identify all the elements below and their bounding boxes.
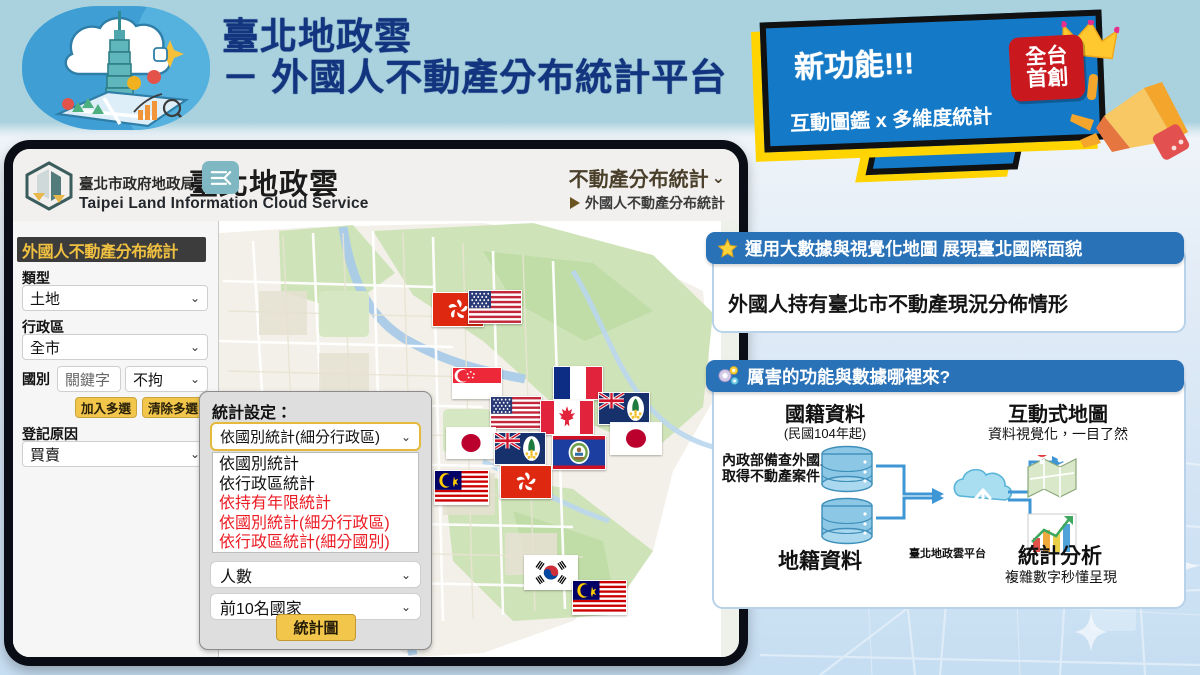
chevron-down-icon: ⌄	[401, 568, 411, 582]
info-card-header-label: 運用大數據與視覺化地圖 展現臺北國際面貌	[745, 236, 1082, 261]
map-flag-british-virgin-islands[interactable]	[494, 432, 546, 465]
stats-popup-title: 統計設定：	[212, 399, 292, 423]
chevron-down-icon: ⌄	[401, 430, 411, 444]
banner-title: 臺北地政雲 － 外國人不動產分布統計平台	[222, 16, 762, 99]
country-keyword-input[interactable]: 關鍵字	[57, 366, 121, 392]
promo-bubble: 新功能!!! 互動圖鑑 x 多維度統計 全台 首創	[752, 8, 1182, 168]
map-flag-united-states[interactable]	[490, 396, 542, 429]
stats-option-4[interactable]: 依行政區統計(細分國別)	[219, 533, 418, 553]
database-icon-2	[822, 499, 872, 544]
nav-main-menu[interactable]: 不動產分布統計 ⌄	[569, 163, 725, 192]
stats-option-1[interactable]: 依行政區統計	[219, 475, 418, 495]
cloud-platform-icon	[954, 470, 1011, 506]
megaphone-icon	[1070, 70, 1190, 165]
map-flag-japan[interactable]	[446, 427, 496, 459]
gears-icon	[717, 366, 740, 387]
database-icon-1	[822, 447, 872, 492]
chart-button[interactable]: 統計圖	[276, 614, 356, 641]
nav-sub-label: 外國人不動產分布統計	[585, 193, 725, 213]
map-flag-belize[interactable]	[552, 435, 606, 470]
land-bureau-logo-icon	[23, 161, 75, 211]
map-flag-canada[interactable]	[540, 400, 594, 435]
nav-main-label: 不動產分布統計	[569, 163, 709, 192]
chevron-down-icon: ⌄	[401, 600, 411, 614]
info-card-body: 外國人持有臺北市不動產現況分佈情形	[728, 288, 1068, 317]
collapse-panel-icon	[209, 168, 233, 188]
reason-select-value: 買賣	[30, 444, 60, 465]
map-flag-hong-kong[interactable]	[500, 465, 552, 499]
banner-title-line2: － 外國人不動產分布統計平台	[222, 57, 762, 98]
district-select-value: 全市	[30, 337, 60, 358]
source-note-line2: 取得不動產案件	[722, 468, 834, 484]
map-flag-malaysia[interactable]	[572, 580, 627, 615]
source-title-2: 地籍資料	[740, 545, 900, 575]
reason-select[interactable]: 買賣 ⌄	[22, 441, 208, 467]
map-flag-france[interactable]	[553, 366, 603, 400]
output-title-2: 統計分析	[960, 540, 1160, 570]
add-multi-button[interactable]: 加入多選	[75, 397, 137, 418]
stats-option-3[interactable]: 依國別統計(細分行政區)	[219, 514, 418, 534]
chevron-down-icon: ⌄	[190, 291, 200, 305]
sidebar-collapse-toggle[interactable]	[202, 161, 239, 194]
metric-select[interactable]: 人數 ⌄	[210, 561, 421, 588]
output-title-1: 互動式地圖	[958, 398, 1158, 427]
district-select[interactable]: 全市 ⌄	[22, 334, 208, 360]
chevron-down-icon: ⌄	[190, 340, 200, 354]
type-select-value: 土地	[30, 288, 60, 309]
clear-multi-button[interactable]: 清除多選	[142, 397, 204, 418]
filter-sidebar: 外國人不動產分布統計 類型 土地 ⌄ 行政區 全市 ⌄ 國別 關鍵字 不拘 ⌄ …	[13, 221, 219, 657]
taipei-101-cloud-illustration	[22, 6, 210, 130]
stats-option-2[interactable]: 依持有年限統計	[219, 494, 418, 514]
field-label-country: 國別	[22, 369, 50, 389]
metric-select-value: 人數	[220, 563, 252, 587]
screenshot-root: 臺北地政雲 － 外國人不動產分布統計平台 新功能!!! 互動圖鑑 x 多維度統計…	[0, 0, 1200, 675]
org-name: 臺北市政府地政局	[79, 173, 195, 194]
sparkle-small-icon	[1074, 612, 1108, 652]
chevron-down-icon: ⌄	[712, 168, 725, 188]
app-header: 臺北市政府地政局 臺北地政雲 Taipei Land Information C…	[13, 149, 739, 221]
flow-card-header-label: 厲害的功能與數據哪裡來?	[747, 364, 950, 389]
hero-logo-badge	[22, 6, 210, 130]
map-thumbnail-icon	[1026, 455, 1078, 499]
app-brand-en: Taipei Land Information Cloud Service	[79, 195, 369, 213]
stats-mode-select[interactable]: 依國別統計(細分行政區) ⌄	[210, 422, 421, 451]
banner-title-line1: 臺北地政雲	[222, 16, 412, 57]
stats-mode-option-list[interactable]: 依國別統計依行政區統計依持有年限統計依國別統計(細分行政區)依行政區統計(細分國…	[212, 452, 419, 553]
triangle-right-icon	[570, 197, 580, 209]
star-icon	[717, 238, 738, 259]
stats-mode-value: 依國別統計(細分行政區)	[220, 426, 380, 447]
output-subtitle-2: 複雜數字秒懂呈現	[956, 567, 1166, 587]
map-flag-british-virgin-islands[interactable]	[598, 392, 650, 425]
country-select[interactable]: 不拘 ⌄	[125, 366, 208, 392]
nav-sub-item[interactable]: 外國人不動產分布統計	[570, 193, 725, 213]
map-flag-singapore[interactable]	[452, 367, 502, 399]
stats-settings-popup: 統計設定： 依國別統計(細分行政區) ⌄ 依國別統計依行政區統計依持有年限統計依…	[199, 391, 432, 650]
type-select[interactable]: 土地 ⌄	[22, 285, 208, 311]
source-note: 內政部備查外國人 取得不動產案件	[722, 452, 834, 484]
flow-card-header: 厲害的功能與數據哪裡來?	[706, 360, 1184, 392]
map-flag-south-korea[interactable]	[524, 555, 578, 590]
map-flag-malaysia[interactable]	[434, 470, 489, 505]
badge-line2: 首創	[1026, 67, 1069, 91]
sidebar-title: 外國人不動產分布統計	[17, 237, 206, 262]
map-flag-united-states[interactable]	[468, 290, 522, 324]
map-flag-japan[interactable]	[610, 422, 662, 455]
source-note-line1: 內政部備查外國人	[722, 452, 834, 468]
chevron-down-icon: ⌄	[190, 372, 200, 386]
country-select-value: 不拘	[133, 369, 163, 390]
country-keyword-placeholder: 關鍵字	[65, 369, 110, 390]
stats-option-0[interactable]: 依國別統計	[219, 455, 418, 475]
info-card-header: 運用大數據與視覺化地圖 展現臺北國際面貌	[706, 232, 1184, 264]
